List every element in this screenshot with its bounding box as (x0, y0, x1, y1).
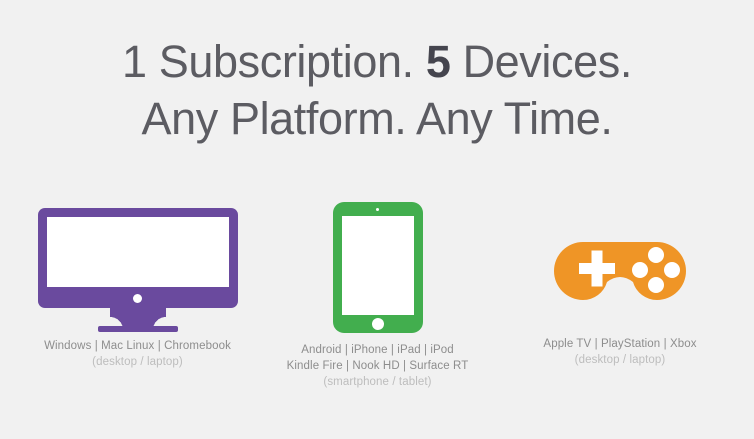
device-column-desktop: Windows | Mac Linux | Chromebook (deskto… (10, 196, 265, 370)
device-column-console: Apple TV | PlayStation | Xbox (desktop /… (495, 196, 745, 368)
tablet-camera-dot (376, 208, 379, 211)
desktop-monitor-icon (10, 196, 265, 338)
device-subcaption-tablet: (smartphone / tablet) (260, 374, 495, 390)
page-title: 1 Subscription. 5 Devices. Any Platform.… (0, 33, 754, 147)
headline-line-1: 1 Subscription. 5 Devices. (0, 33, 754, 90)
device-caption-desktop: Windows | Mac Linux | Chromebook (10, 338, 265, 354)
device-column-tablet: Android | iPhone | iPad | iPod Kindle Fi… (260, 196, 495, 390)
headline-text-before-accent: 1 Subscription. (122, 36, 426, 87)
headline-text-after-accent: Devices. (450, 36, 631, 87)
monitor-stand-base (98, 326, 178, 332)
monitor-screen (47, 217, 229, 287)
monitor-body (38, 208, 238, 308)
promo-graphic: 1 Subscription. 5 Devices. Any Platform.… (0, 0, 754, 439)
game-controller-icon (495, 196, 745, 336)
tablet-icon (260, 196, 495, 342)
device-caption-console: Apple TV | PlayStation | Xbox (495, 336, 745, 352)
device-subcaption-console: (desktop / laptop) (495, 352, 745, 368)
monitor-indicator-dot (133, 294, 142, 303)
headline-line-2: Any Platform. Any Time. (0, 90, 754, 147)
controller-body (554, 242, 686, 300)
device-columns: Windows | Mac Linux | Chromebook (deskto… (0, 196, 754, 426)
tablet-screen (342, 216, 414, 315)
tablet-home-button (372, 318, 384, 330)
tablet-body (333, 202, 423, 333)
headline-accent-number: 5 (426, 36, 451, 87)
device-caption-tablet-line-2: Kindle Fire | Nook HD | Surface RT (260, 358, 495, 374)
device-caption-tablet-line-1: Android | iPhone | iPad | iPod (260, 342, 495, 358)
device-subcaption-desktop: (desktop / laptop) (10, 354, 265, 370)
